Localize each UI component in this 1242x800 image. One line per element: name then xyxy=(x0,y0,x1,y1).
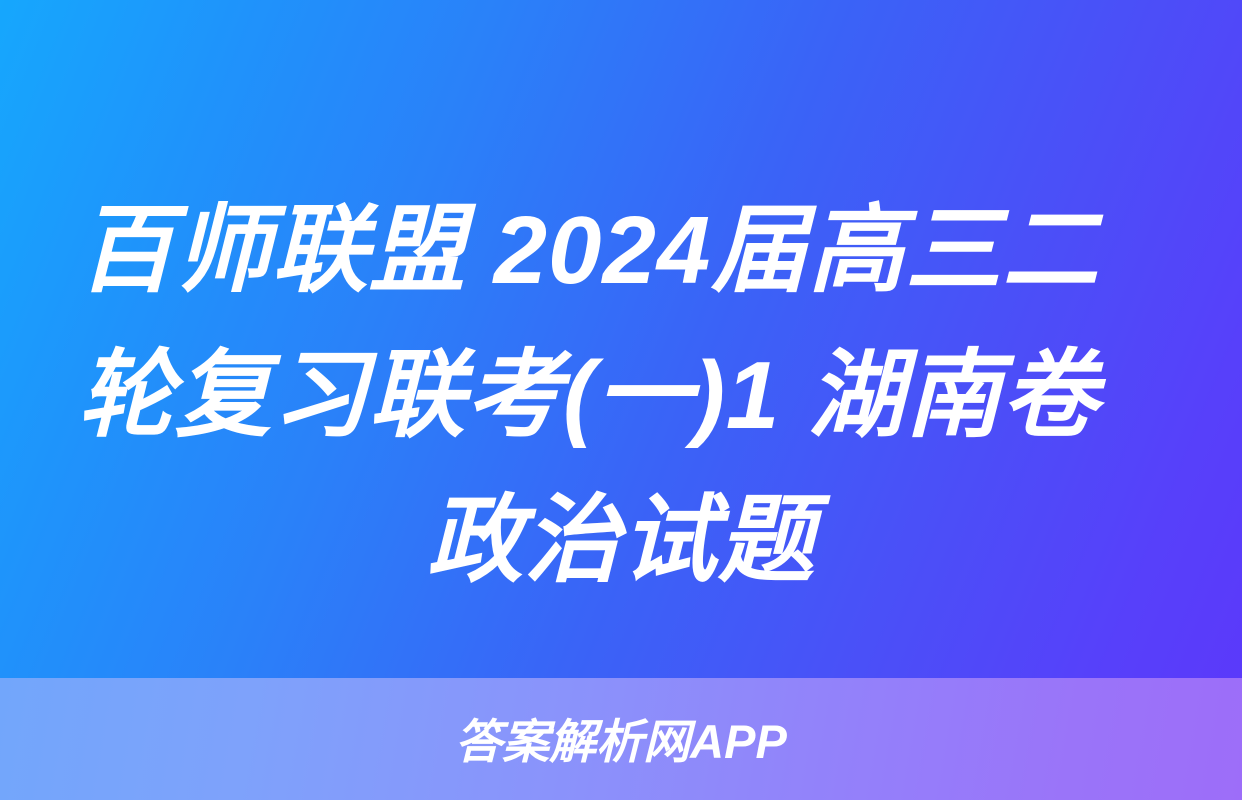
title-block: 百师联盟 2024届高三二 轮复习联考(一)1 湖南卷 政治试题 xyxy=(0,178,1242,613)
title-line-3: 政治试题 xyxy=(78,468,1164,613)
title-line-1: 百师联盟 2024届高三二 xyxy=(78,178,1164,323)
title-line-2: 轮复习联考(一)1 湖南卷 xyxy=(78,323,1164,468)
title-card: 百师联盟 2024届高三二 轮复习联考(一)1 湖南卷 政治试题 答案解析网AP… xyxy=(0,0,1242,800)
footer-band: 答案解析网APP xyxy=(0,678,1242,800)
watermark-app-label: 答案解析网APP xyxy=(455,718,787,765)
